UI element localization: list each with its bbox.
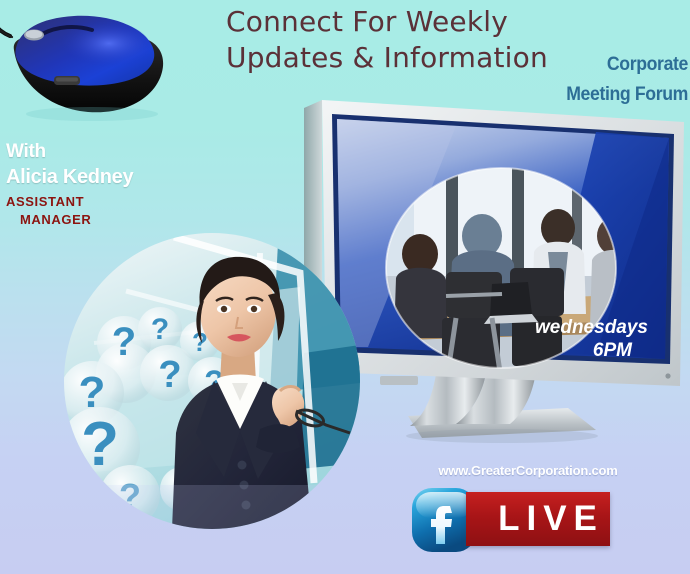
live-label-box[interactable]: LIVE [466, 492, 610, 546]
svg-text:?: ? [158, 354, 181, 396]
presenter-block: With Alicia Kedney ASSISTANT MANAGER [6, 140, 186, 229]
businesswoman-portrait: ? ? ? ? ? ? ? ? ? [64, 233, 360, 529]
headline: Connect For Weekly Updates & Information [226, 4, 556, 76]
poster-canvas: Connect For Weekly Updates & Information… [0, 0, 690, 574]
presenter-name: Alicia Kedney [6, 164, 186, 190]
headline-line-2: Updates & Information [226, 40, 556, 76]
live-label: LIVE [466, 492, 610, 546]
svg-text:?: ? [81, 410, 119, 479]
monitor-power-led [665, 373, 670, 378]
svg-text:?: ? [112, 320, 136, 364]
monitor-brand-badge [380, 376, 418, 385]
svg-text:?: ? [151, 313, 169, 346]
presenter-role-line-1: ASSISTANT [6, 193, 186, 211]
computer-mouse-icon [0, 4, 186, 124]
presenter-with-label: With [6, 140, 186, 164]
website-url[interactable]: www.GreaterCorporation.com [418, 463, 638, 478]
headline-line-1: Connect For Weekly [226, 4, 556, 40]
brand-line-1: Corporate [539, 50, 688, 80]
schedule-line-2: 6PM [593, 340, 633, 361]
schedule-line-1: wednesdays [535, 317, 648, 338]
presenter-role-line-2: MANAGER [20, 211, 186, 229]
facebook-live-badge[interactable]: LIVE [410, 484, 610, 556]
